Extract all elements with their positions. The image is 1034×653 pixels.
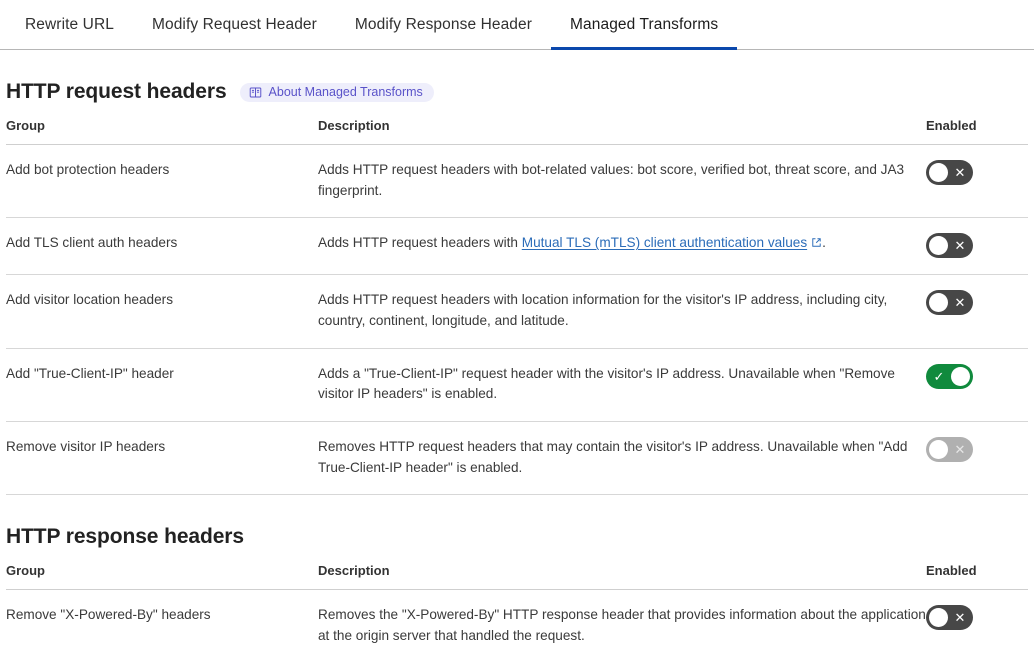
table-row: Add bot protection headers Adds HTTP req… — [6, 145, 1028, 218]
description-text-before: Adds HTTP request headers with — [318, 235, 522, 250]
check-icon: ✓ — [928, 364, 950, 389]
cross-icon: ✕ — [949, 160, 971, 185]
link-label: Mutual TLS (mTLS) client authentication … — [522, 235, 807, 250]
tab-label: Rewrite URL — [25, 16, 114, 34]
column-header-group: Group — [6, 563, 318, 590]
tab-label: Managed Transforms — [570, 16, 718, 34]
column-header-enabled: Enabled — [926, 563, 1028, 590]
toggle-add-true-client-ip-header[interactable]: ✓ — [926, 364, 973, 389]
section-http-request-headers: HTTP request headers About Managed Trans… — [0, 50, 1034, 495]
toggle-remove-visitor-ip-headers: ✕ — [926, 437, 973, 462]
row-enabled-cell: ✓ — [926, 348, 1028, 421]
cross-icon: ✕ — [949, 437, 971, 462]
column-header-description: Description — [318, 118, 926, 145]
row-group-name: Remove visitor IP headers — [6, 421, 318, 494]
toggle-knob — [929, 440, 948, 459]
tab-label: Modify Response Header — [355, 16, 532, 34]
table-row: Add TLS client auth headers Adds HTTP re… — [6, 218, 1028, 275]
toggle-knob — [929, 163, 948, 182]
row-group-name: Add bot protection headers — [6, 145, 318, 218]
row-enabled-cell: ✕ — [926, 275, 1028, 348]
row-group-name: Add TLS client auth headers — [6, 218, 318, 275]
table-header-row: Group Description Enabled — [6, 563, 1028, 590]
section-title: HTTP response headers — [6, 525, 244, 549]
tab-modify-request-header[interactable]: Modify Request Header — [133, 0, 336, 50]
tab-modify-response-header[interactable]: Modify Response Header — [336, 0, 551, 50]
cross-icon: ✕ — [949, 233, 971, 258]
row-enabled-cell: ✕ — [926, 145, 1028, 218]
section-header: HTTP request headers About Managed Trans… — [6, 50, 1028, 118]
row-group-name: Remove "X-Powered-By" headers — [6, 590, 318, 653]
column-header-description: Description — [318, 563, 926, 590]
toggle-knob — [951, 367, 970, 386]
book-icon — [249, 86, 262, 99]
external-link-icon — [811, 234, 822, 255]
toggle-add-bot-protection-headers[interactable]: ✕ — [926, 160, 973, 185]
section-title: HTTP request headers — [6, 80, 227, 104]
table-row: Add visitor location headers Adds HTTP r… — [6, 275, 1028, 348]
toggle-add-tls-client-auth-headers[interactable]: ✕ — [926, 233, 973, 258]
row-description: Adds HTTP request headers with location … — [318, 275, 926, 348]
row-description: Adds HTTP request headers with bot-relat… — [318, 145, 926, 218]
section-header: HTTP response headers — [6, 495, 1028, 563]
mtls-docs-link[interactable]: Mutual TLS (mTLS) client authentication … — [522, 235, 822, 250]
tab-bar: Rewrite URL Modify Request Header Modify… — [0, 0, 1034, 50]
cross-icon: ✕ — [949, 605, 971, 630]
row-group-name: Add visitor location headers — [6, 275, 318, 348]
tab-managed-transforms[interactable]: Managed Transforms — [551, 0, 737, 50]
description-text-after: . — [822, 235, 826, 250]
request-headers-table: Group Description Enabled Add bot protec… — [6, 118, 1028, 495]
section-http-response-headers: HTTP response headers Group Description … — [0, 495, 1034, 653]
row-enabled-cell: ✕ — [926, 421, 1028, 494]
cross-icon: ✕ — [949, 290, 971, 315]
toggle-knob — [929, 236, 948, 255]
badge-label: About Managed Transforms — [269, 86, 423, 99]
table-row: Remove visitor IP headers Removes HTTP r… — [6, 421, 1028, 494]
table-header-row: Group Description Enabled — [6, 118, 1028, 145]
row-description: Removes HTTP request headers that may co… — [318, 421, 926, 494]
toggle-add-visitor-location-headers[interactable]: ✕ — [926, 290, 973, 315]
table-row: Remove "X-Powered-By" headers Removes th… — [6, 590, 1028, 653]
column-header-group: Group — [6, 118, 318, 145]
response-headers-table: Group Description Enabled Remove "X-Powe… — [6, 563, 1028, 653]
toggle-remove-x-powered-by-headers[interactable]: ✕ — [926, 605, 973, 630]
about-managed-transforms-badge[interactable]: About Managed Transforms — [240, 83, 434, 102]
toggle-knob — [929, 608, 948, 627]
row-description: Removes the "X-Powered-By" HTTP response… — [318, 590, 926, 653]
tab-rewrite-url[interactable]: Rewrite URL — [6, 0, 133, 50]
row-description: Adds a "True-Client-IP" request header w… — [318, 348, 926, 421]
row-group-name: Add "True-Client-IP" header — [6, 348, 318, 421]
toggle-knob — [929, 293, 948, 312]
row-description: Adds HTTP request headers with Mutual TL… — [318, 218, 926, 275]
row-enabled-cell: ✕ — [926, 590, 1028, 653]
managed-transforms-page: Rewrite URL Modify Request Header Modify… — [0, 0, 1034, 653]
row-enabled-cell: ✕ — [926, 218, 1028, 275]
column-header-enabled: Enabled — [926, 118, 1028, 145]
table-row: Add "True-Client-IP" header Adds a "True… — [6, 348, 1028, 421]
tab-label: Modify Request Header — [152, 16, 317, 34]
